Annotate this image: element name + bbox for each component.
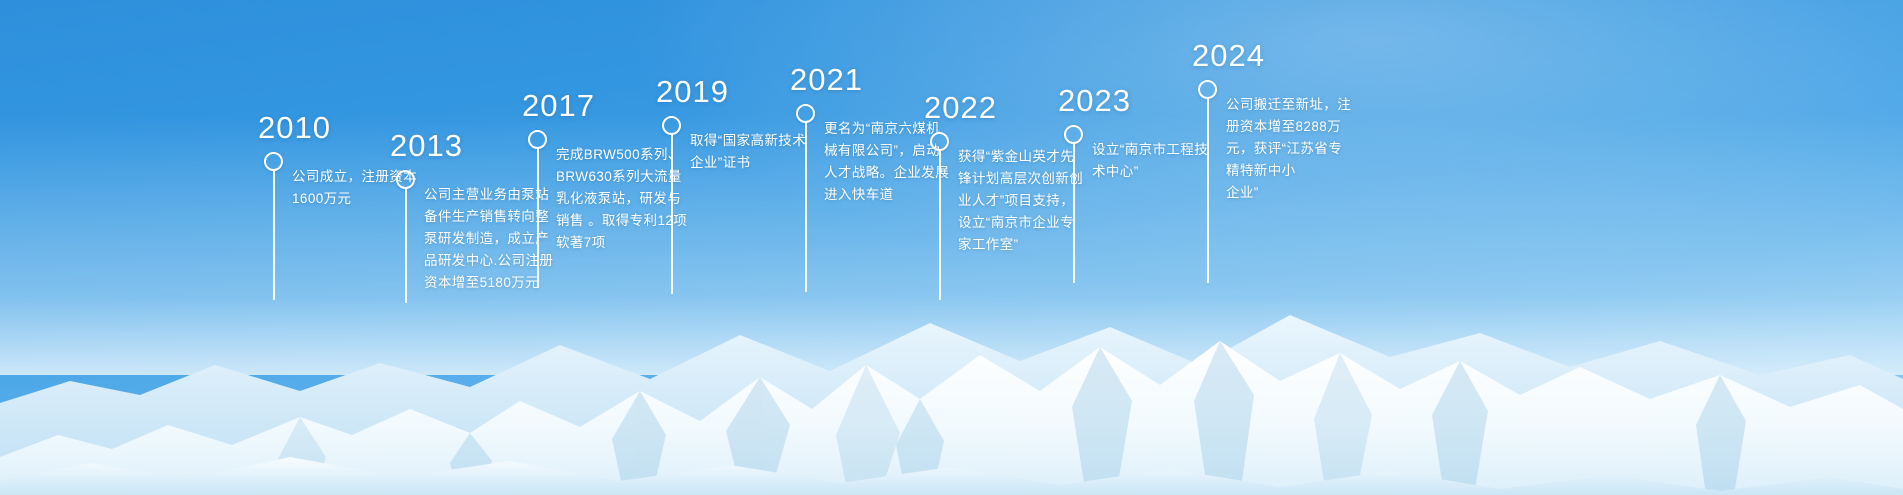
timeline-description-2021: 更名为“南京六煤机 械有限公司”，启动 人才战略。企业发展 进入快车道: [824, 118, 974, 206]
timeline-description-2024: 公司搬迁至新址，注 册资本增至8288万 元，获评“江苏省专 精特新中小 企业”: [1226, 94, 1381, 204]
timeline-marker-2010: [264, 152, 283, 171]
timeline-dot-icon: [528, 130, 547, 149]
timeline-stem: [939, 150, 941, 300]
timeline-stem: [1207, 98, 1209, 283]
timeline-year-2019: 2019: [656, 74, 729, 110]
timeline-year-2024: 2024: [1192, 38, 1265, 74]
timeline-marker-2024: [1198, 80, 1217, 99]
timeline-year-2013: 2013: [390, 128, 463, 164]
timeline-stem: [1073, 143, 1075, 283]
timeline-dot-icon: [930, 132, 949, 151]
timeline-marker-2013: [396, 170, 415, 189]
timeline-description-2023: 设立“南京市工程技 术中心”: [1092, 139, 1242, 183]
timeline-year-2023: 2023: [1058, 83, 1131, 119]
timeline-marker-2021: [796, 104, 815, 123]
timeline-scene: 2010 公司成立，注册资本 1600万元 2013 公司主营业务由泵站 备件生…: [0, 0, 1903, 495]
timeline-description-2010: 公司成立，注册资本 1600万元: [292, 166, 442, 210]
timeline-dot-icon: [796, 104, 815, 123]
timeline-description-2017: 完成BRW500系列、 BRW630系列大流量 乳化液泵站，研发与 销售 。取得…: [556, 144, 711, 254]
timeline-stem: [537, 148, 539, 288]
timeline-stem: [671, 134, 673, 294]
timeline-year-2017: 2017: [522, 88, 595, 124]
timeline-marker-2017: [528, 130, 547, 149]
timeline-dot-icon: [1064, 125, 1083, 144]
timeline-year-2010: 2010: [258, 110, 331, 146]
timeline-dot-icon: [264, 152, 283, 171]
timeline-dot-icon: [662, 116, 681, 135]
timeline-description-2019: 取得“国家高新技术 企业”证书: [690, 130, 840, 174]
timeline-stem: [405, 188, 407, 303]
timeline-track: 2010 公司成立，注册资本 1600万元 2013 公司主营业务由泵站 备件生…: [0, 0, 1903, 495]
timeline-stem: [273, 170, 275, 300]
timeline-dot-icon: [396, 170, 415, 189]
timeline-marker-2023: [1064, 125, 1083, 144]
timeline-marker-2022: [930, 132, 949, 151]
timeline-year-2022: 2022: [924, 90, 997, 126]
timeline-marker-2019: [662, 116, 681, 135]
timeline-dot-icon: [1198, 80, 1217, 99]
timeline-year-2021: 2021: [790, 62, 863, 98]
timeline-description-2022: 获得“紫金山英才先 锋计划高层次创新创 业人才”项目支持， 设立“南京市企业专 …: [958, 146, 1110, 256]
timeline-stem: [805, 122, 807, 292]
